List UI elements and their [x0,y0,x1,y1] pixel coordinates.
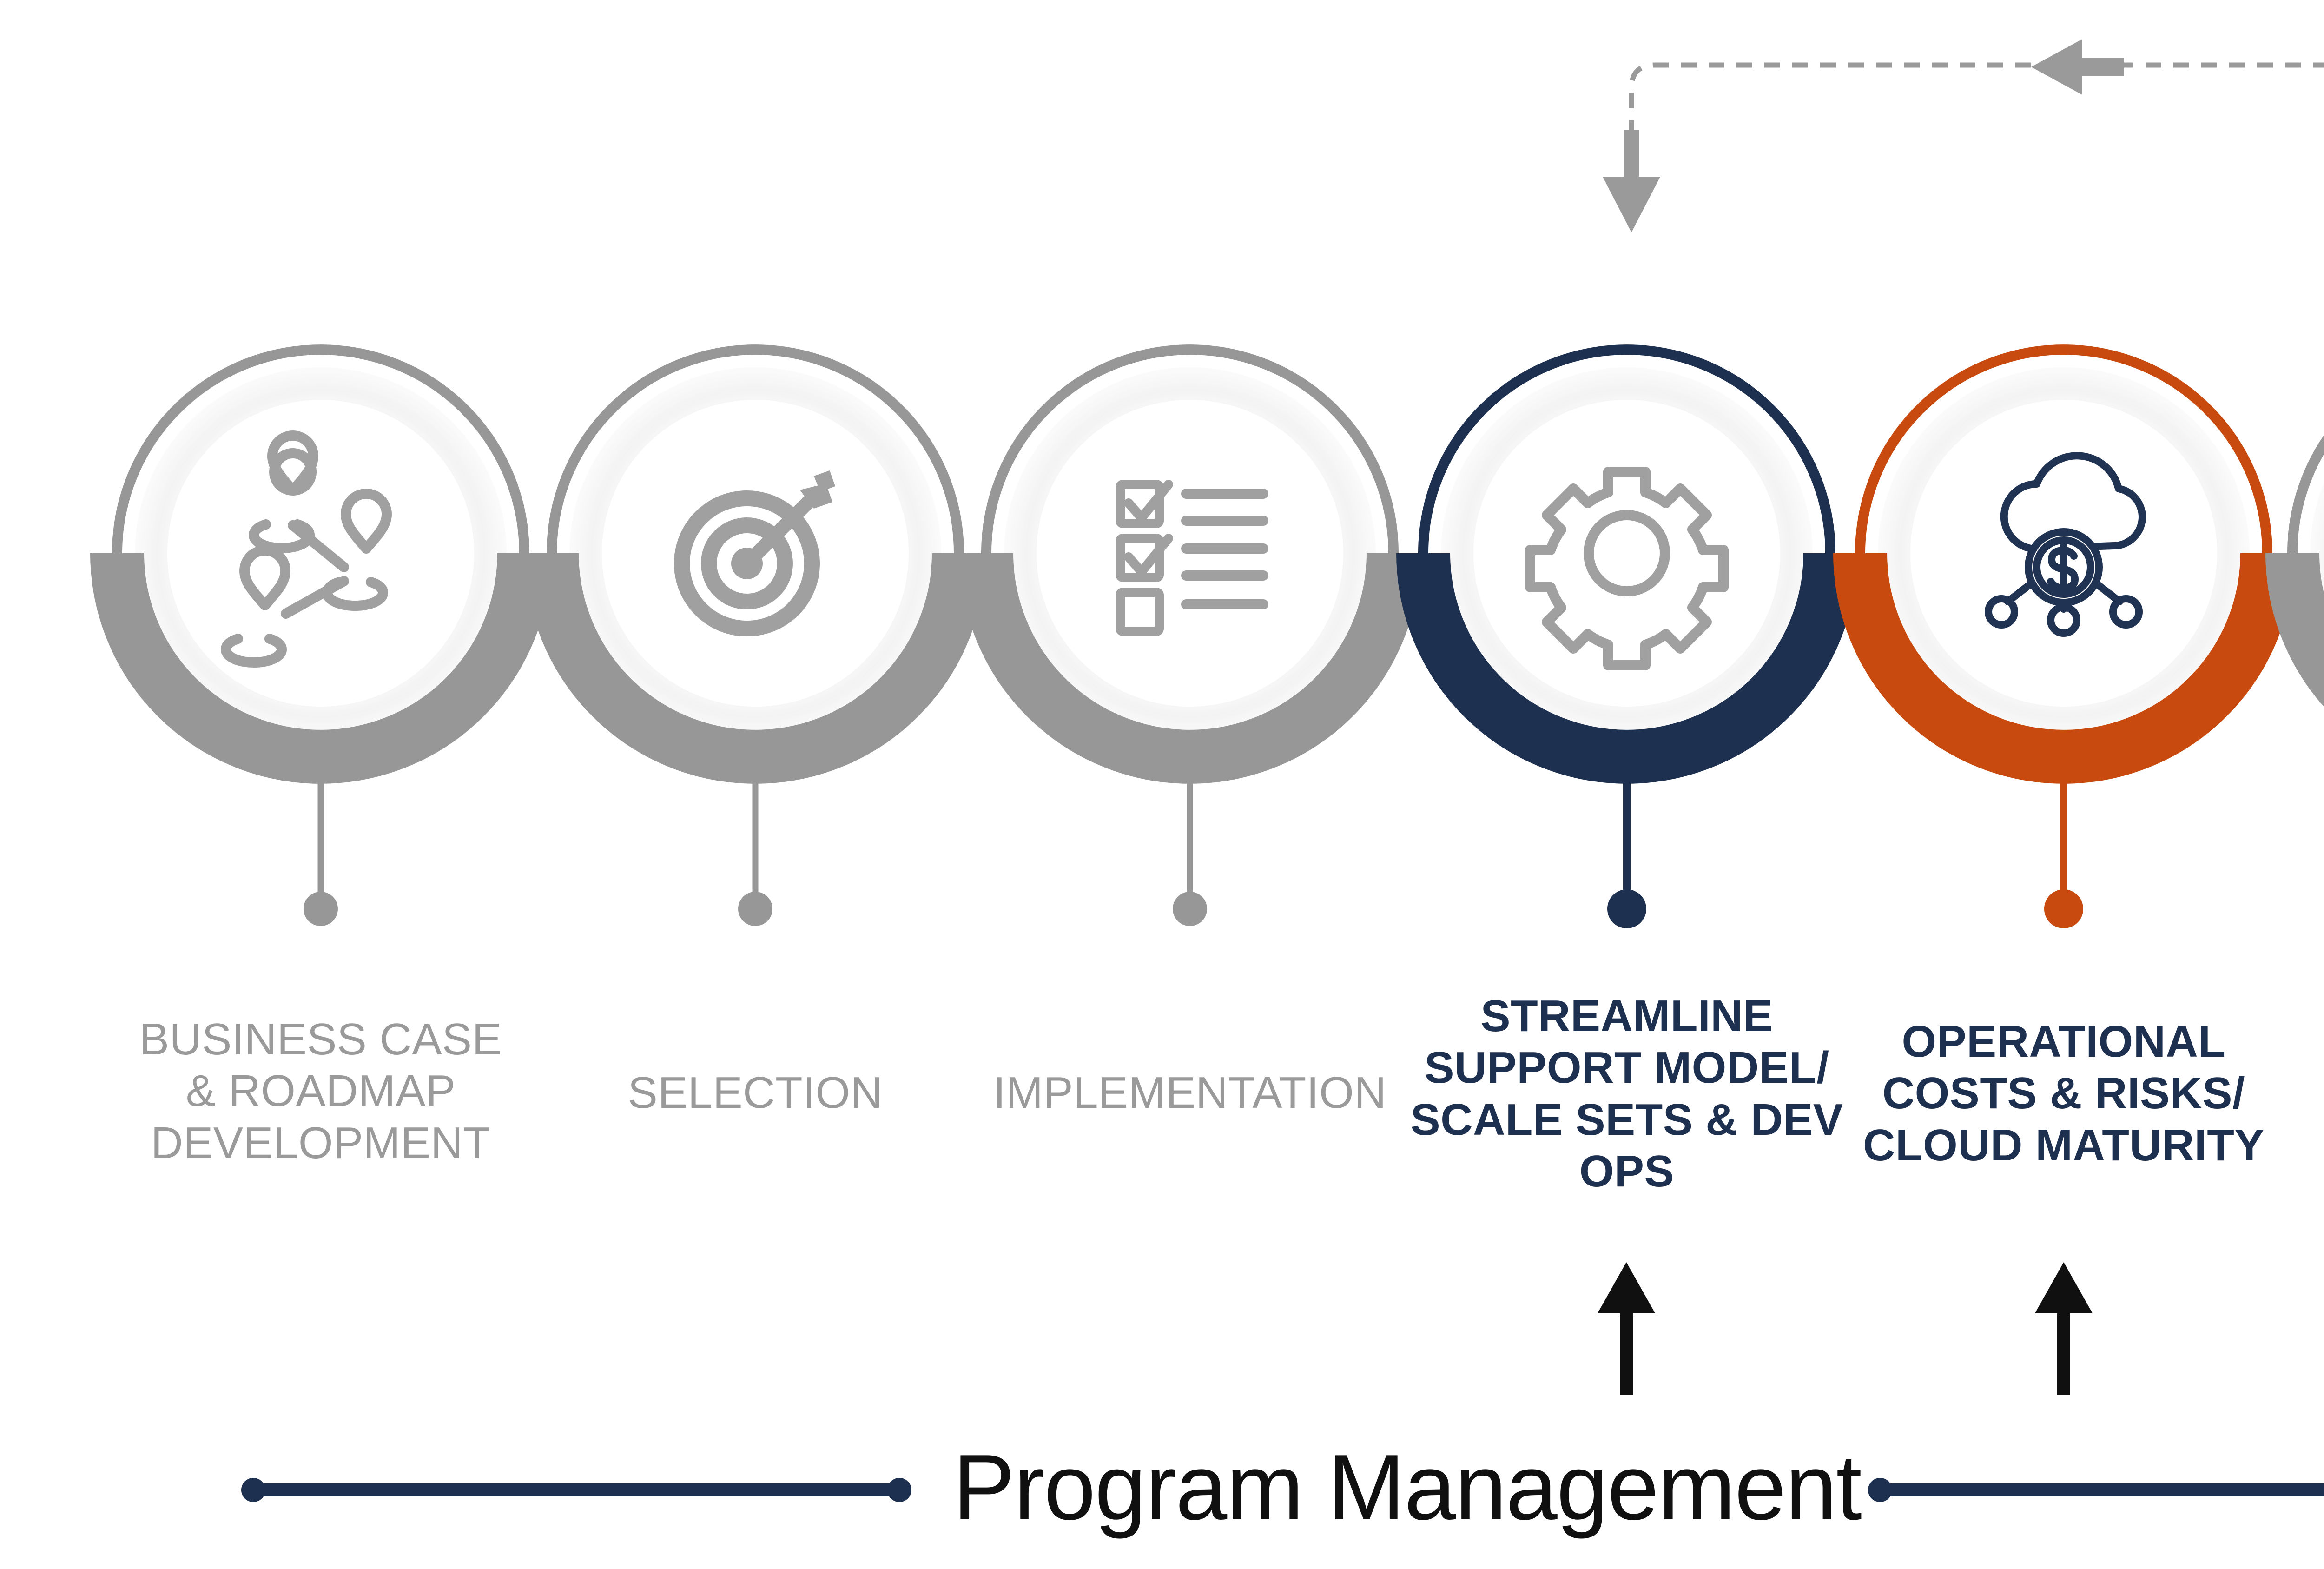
stage-label-business-case: BUSINESS CASE & ROADMAP DEVELOPMENT [102,1013,539,1169]
loop-down-arrow-icon [1603,130,1660,232]
program-management-rule-left [241,1478,911,1502]
stage-circle-operational-costs[interactable] [1860,350,2267,757]
program-pointer-arrow-operational [2035,1262,2093,1395]
stage-circle-selection[interactable] [552,350,959,757]
program-management-title: Program Management [953,1434,1861,1541]
diagram-canvas [0,0,2324,1569]
feedback-loop [1631,65,2324,349]
stage-label-implementation: IMPLEMENTATION [948,1067,1432,1119]
program-pointer-arrow-streamline [1598,1262,1655,1395]
stage-circle-streamline-support[interactable] [1423,350,1830,757]
stage-label-selection: SELECTION [537,1067,974,1119]
stage-circle-upgrades[interactable] [2292,350,2324,757]
lifecycle-diagram: BUSINESS CASE & ROADMAP DEVELOPMENT SELE… [0,0,2324,1569]
stage-label-streamline-support: STREAMLINE SUPPORT MODEL/ SCALE SETS & D… [1404,990,1850,1197]
stage-label-operational-costs: OPERATIONAL COSTS & RISKS/ CLOUD MATURIT… [1848,1016,2280,1171]
stage-circle-business-case[interactable] [117,350,524,757]
loop-left-arrow-icon [2031,39,2124,95]
stage-circle-implementation[interactable] [986,350,1393,757]
program-management-rule-right [1868,1478,2324,1502]
stage-label-upgrades: UPGRADES [2278,1067,2324,1119]
